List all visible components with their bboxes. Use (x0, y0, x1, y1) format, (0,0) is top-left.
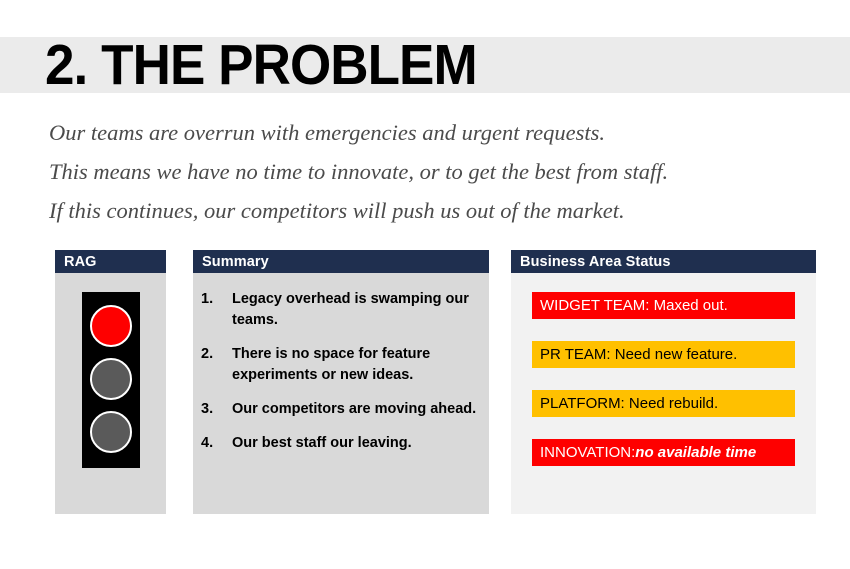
status-badge: PLATFORM: Need rebuild. (532, 390, 795, 417)
list-item-text: Legacy overhead is swamping our teams. (232, 289, 479, 331)
page-title: 2. THE PROBLEM (45, 33, 477, 97)
green-lamp-icon (90, 411, 132, 453)
list-item-text: Our best staff our leaving. (232, 433, 412, 454)
status-badge-label: INNOVATION: (540, 445, 635, 461)
list-item-number: 4. (200, 433, 232, 454)
lead-line-3: If this continues, our competitors will … (49, 191, 809, 230)
status-badge-label: PLATFORM: Need rebuild. (540, 396, 718, 412)
business-panel-body: WIDGET TEAM: Maxed out. PR TEAM: Need ne… (511, 273, 816, 514)
business-area-status-panel: Business Area Status WIDGET TEAM: Maxed … (511, 250, 816, 514)
amber-lamp-icon (90, 358, 132, 400)
status-badge: INNOVATION: no available time (532, 439, 795, 466)
rag-panel-body (55, 273, 166, 514)
list-item: 2. There is no space for feature experim… (200, 344, 479, 386)
list-item: 4. Our best staff our leaving. (200, 433, 479, 454)
list-item-text: Our competitors are moving ahead. (232, 399, 476, 420)
lead-line-2: This means we have no time to innovate, … (49, 152, 809, 191)
summary-panel: Summary 1. Legacy overhead is swamping o… (193, 250, 489, 514)
rag-panel: RAG (55, 250, 166, 514)
list-item-text: There is no space for feature experiment… (232, 344, 479, 386)
list-item-number: 3. (200, 399, 232, 420)
list-item-number: 1. (200, 289, 232, 331)
traffic-light-icon (82, 292, 140, 468)
list-item: 1. Legacy overhead is swamping our teams… (200, 289, 479, 331)
lead-paragraph: Our teams are overrun with emergencies a… (49, 113, 809, 230)
status-badge-label: WIDGET TEAM: Maxed out. (540, 298, 728, 314)
status-badge: PR TEAM: Need new feature. (532, 341, 795, 368)
business-panel-header: Business Area Status (511, 250, 816, 273)
list-item-number: 2. (200, 344, 232, 386)
list-item: 3. Our competitors are moving ahead. (200, 399, 479, 420)
status-badge-label: PR TEAM: Need new feature. (540, 347, 737, 363)
rag-panel-header: RAG (55, 250, 166, 273)
status-badge-emphasis: no available time (635, 445, 756, 461)
summary-panel-header-label: Summary (202, 255, 269, 269)
lead-line-1: Our teams are overrun with emergencies a… (49, 113, 809, 152)
status-badge: WIDGET TEAM: Maxed out. (532, 292, 795, 319)
summary-panel-body: 1. Legacy overhead is swamping our teams… (193, 273, 489, 514)
rag-panel-header-label: RAG (64, 255, 97, 269)
business-panel-header-label: Business Area Status (520, 255, 671, 269)
summary-panel-header: Summary (193, 250, 489, 273)
red-lamp-icon (90, 305, 132, 347)
